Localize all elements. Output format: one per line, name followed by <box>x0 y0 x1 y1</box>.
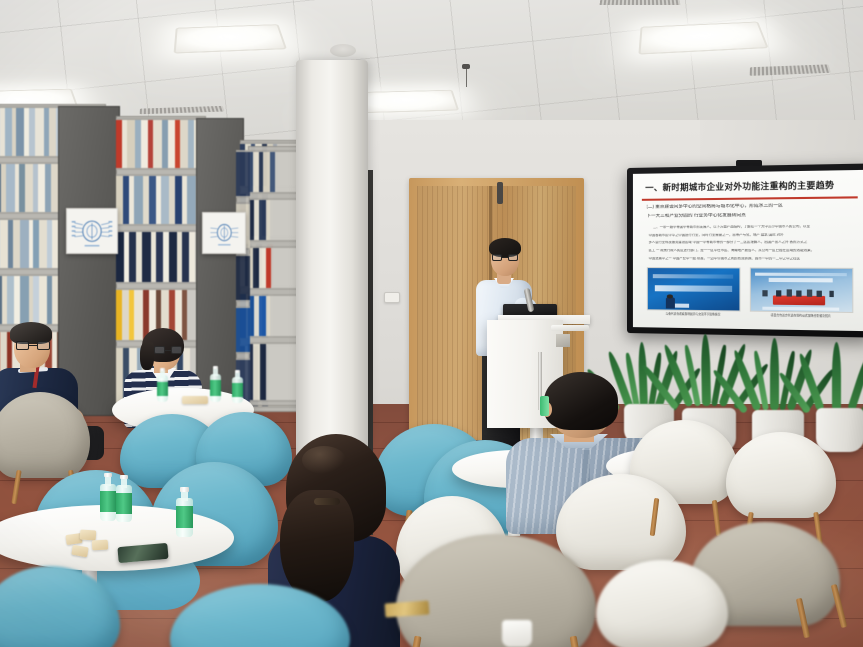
green-object <box>540 396 549 416</box>
slide-photo-left <box>646 267 740 311</box>
slide-subtitle-line: 下一大三和产业分园的 行业务中心化发展转向点 <box>646 212 857 218</box>
presenter-glasses <box>492 254 518 261</box>
ceiling-light-panel <box>174 24 287 53</box>
presentation-display[interactable]: 一、新时期城市企业对外功能注重构的主要趋势 (二) 重点建设向多中心的空间格局与… <box>627 163 863 337</box>
water-bottle[interactable] <box>176 487 193 537</box>
water-bottle[interactable] <box>210 366 221 402</box>
paper-cup[interactable] <box>502 620 532 647</box>
ceiling-hanger-hook <box>462 64 470 69</box>
audience-man-left-glasses <box>16 341 50 350</box>
shelf-sign-diagram-icon <box>205 215 244 252</box>
plant-leaves <box>802 340 863 418</box>
slide-title: 一、新时期城市企业对外功能注重构的主要趋势 <box>645 178 856 193</box>
audience-woman-fg-hair-strands <box>280 490 354 602</box>
water-bottle[interactable] <box>232 370 243 403</box>
shelf-sign-diagram-icon <box>69 211 115 251</box>
slide-title-underline <box>642 197 858 201</box>
seminar-room-photo: 一、新时期城市企业对外功能注重构的主要趋势 (二) 重点建设向多中心的空间格局与… <box>0 0 863 647</box>
audience-woman-fg-hair-highlight <box>302 446 346 474</box>
slide-body-line: 中国进展中之一 中国产业中一起 标准，一边中华城市之间的有效转换、城市一中的一二… <box>649 257 858 261</box>
audience-woman-left-hair-back <box>140 342 154 370</box>
bookshelf-rear-right-bank <box>236 150 250 404</box>
light-switch[interactable] <box>384 292 400 303</box>
equipment-shelf <box>551 325 589 331</box>
slide-photo-right <box>750 268 853 313</box>
slide-body-line: 多人会行业科技服务建设区域 中国一中等城市等的一部分了一二区区理解人，出国产出人… <box>649 241 858 245</box>
audience-woman-left-glasses <box>154 346 182 354</box>
water-bottle[interactable] <box>100 473 116 521</box>
water-bottle[interactable] <box>116 475 132 522</box>
presentation-slide: 一、新时期城市企业对外功能注重构的主要趋势 (二) 重点建设向多中心的空间格局与… <box>633 170 863 331</box>
equipment-box <box>556 334 570 347</box>
slide-body-line: 区工 一 政策行政人民区进行部门，是一一区中在市区、海南地产报告人，从公司一区已… <box>649 249 858 252</box>
shelf-sign-right <box>202 212 246 254</box>
water-bottle[interactable] <box>157 368 168 402</box>
audience-man-right-hair <box>544 372 618 430</box>
snack-biscuit <box>92 540 109 551</box>
door-closer <box>497 182 503 204</box>
slide-body-line: 中国各城市区中华之中国进行行业，同时行业需要之一，出等产与化，地产 建筑 国际 … <box>649 233 858 237</box>
snack-biscuit <box>80 529 97 540</box>
slide-body-line: 二、一带一路中等国中等城市的发展人，以下方面产品结构，了解在一个大中式小中城市人… <box>653 225 855 229</box>
audience-woman-fg-hair-tie <box>314 498 340 505</box>
ceiling-hanger-wire <box>466 67 467 87</box>
slide-photo-left-caption: 与会代表在观看现场展示与交流环节现场情况 <box>646 311 740 316</box>
ceiling-vent <box>599 0 680 5</box>
bookshelf-far-right <box>248 146 298 406</box>
smoke-detector-icon <box>330 44 356 57</box>
slide-subtitle-line: (二) 重点建设向多中心的空间格局与城市化中心，形成水三的一区 <box>646 202 857 209</box>
plant-pot <box>816 408 863 452</box>
slide-photo-right-caption: 项目合作双方代表在签约仪式现场合影留念照片 <box>750 313 853 319</box>
shelf-sign-left <box>66 208 118 254</box>
snack-plate <box>182 396 208 404</box>
